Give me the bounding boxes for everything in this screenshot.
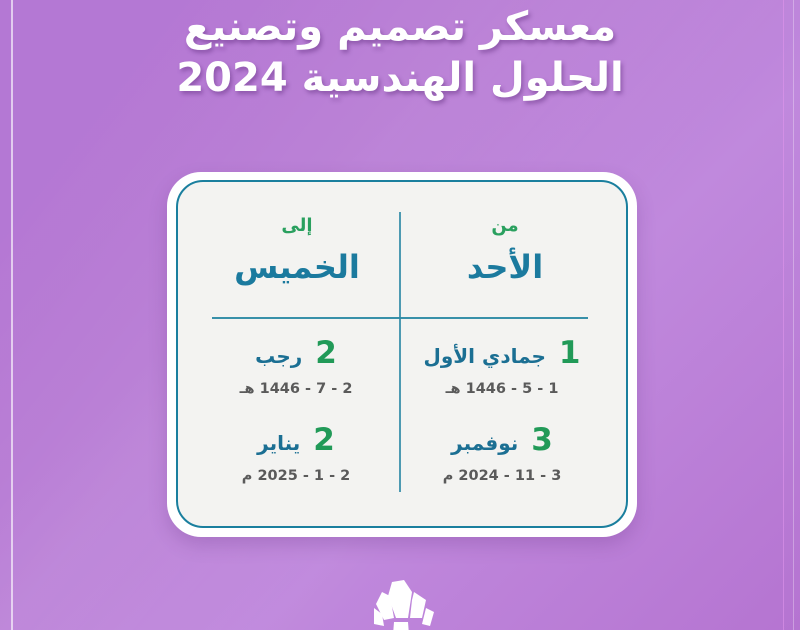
page-title-line-1: معسكر تصميم وتصنيع bbox=[170, 2, 630, 53]
from-hijri-full: 1 - 5 - 1446 هـ bbox=[404, 381, 600, 397]
to-gregorian-month: يناير bbox=[257, 433, 300, 453]
from-gregorian-date: 3 نوفمبر 3 - 11 - 2024 م bbox=[404, 425, 600, 484]
from-hijri-day-number: 1 bbox=[559, 338, 581, 369]
page-title-line-2: الحلول الهندسية 2024 bbox=[170, 53, 630, 104]
to-hijri-date: 2 رجب 2 - 7 - 1446 هـ bbox=[198, 338, 394, 397]
to-gregorian-full: 2 - 1 - 2025 م bbox=[198, 468, 394, 484]
card-vertical-divider bbox=[399, 212, 401, 492]
to-gregorian-main: 2 يناير bbox=[198, 425, 394, 456]
to-hijri-month: رجب bbox=[255, 346, 302, 366]
to-hijri-day-number: 2 bbox=[315, 338, 337, 369]
from-hijri-main: 1 جمادي الأول bbox=[404, 338, 600, 369]
poster-canvas: معسكر تصميم وتصنيع الحلول الهندسية 2024 … bbox=[0, 0, 800, 630]
from-day-name: الأحد bbox=[410, 246, 600, 289]
to-gregorian-date: 2 يناير 2 - 1 - 2025 م bbox=[198, 425, 394, 484]
from-column-header: من الأحد bbox=[410, 214, 600, 290]
from-gregorian-month: نوفمبر bbox=[451, 433, 518, 453]
card-horizontal-rule bbox=[212, 317, 588, 319]
palm-emblem-icon bbox=[352, 578, 448, 630]
page-title: معسكر تصميم وتصنيع الحلول الهندسية 2024 bbox=[0, 0, 800, 104]
to-column-header: إلى الخميس bbox=[202, 214, 392, 290]
to-hijri-main: 2 رجب bbox=[198, 338, 394, 369]
to-label: إلى bbox=[202, 214, 392, 237]
to-gregorian-day-number: 2 bbox=[313, 425, 335, 456]
to-hijri-full: 2 - 7 - 1446 هـ bbox=[198, 381, 394, 397]
from-hijri-month: جمادي الأول bbox=[424, 346, 546, 366]
from-gregorian-day-number: 3 bbox=[531, 425, 553, 456]
from-gregorian-main: 3 نوفمبر bbox=[404, 425, 600, 456]
from-gregorian-full: 3 - 11 - 2024 م bbox=[404, 468, 600, 484]
to-day-name: الخميس bbox=[202, 246, 392, 289]
from-hijri-date: 1 جمادي الأول 1 - 5 - 1446 هـ bbox=[404, 338, 600, 397]
from-label: من bbox=[410, 214, 600, 237]
